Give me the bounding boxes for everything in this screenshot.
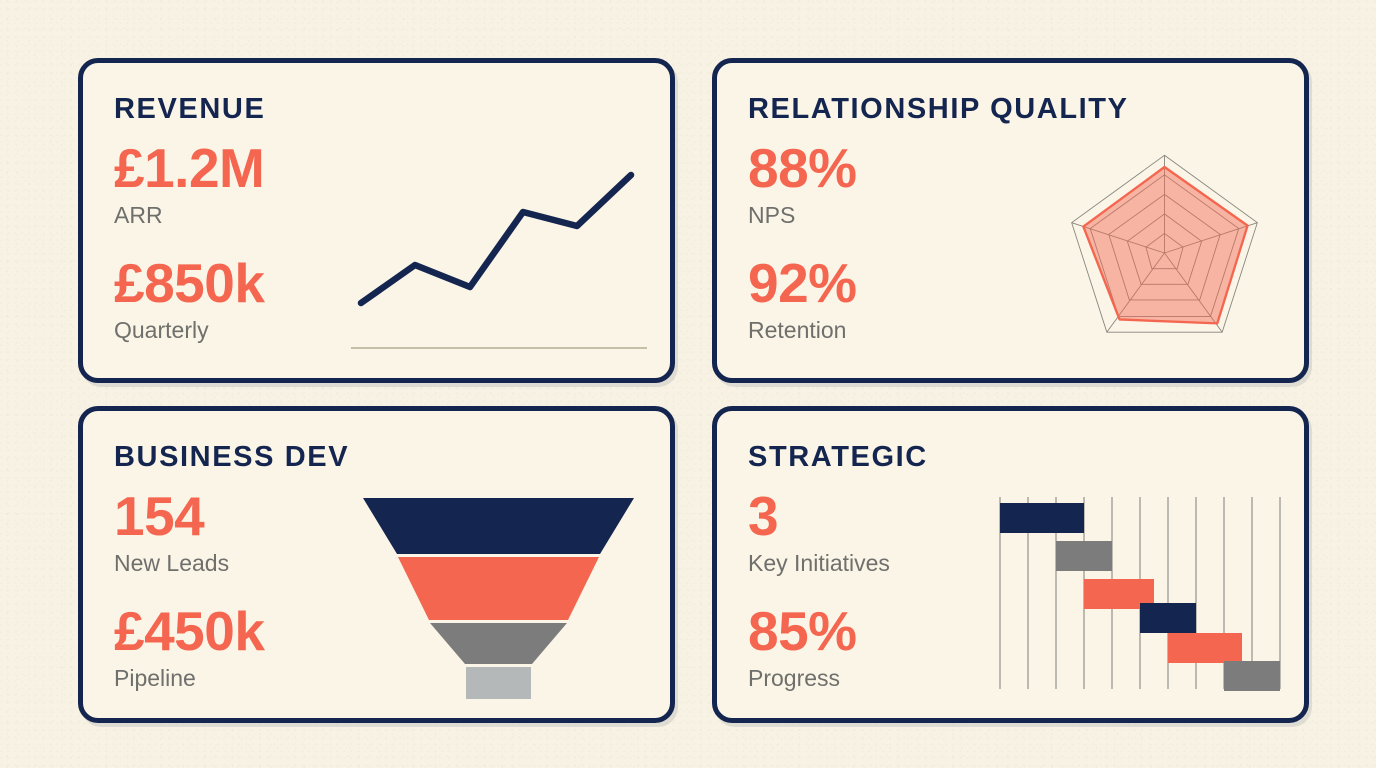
- gantt-bar-2: [1056, 541, 1112, 571]
- card-title-relationship: RELATIONSHIP QUALITY: [748, 93, 1129, 126]
- funnel-stage-3: [430, 623, 567, 664]
- revenue-line-series: [361, 175, 631, 303]
- metric-value-quarterly: £850k: [114, 256, 364, 311]
- metric-nps: 88% NPS: [748, 141, 998, 228]
- dashboard-grid: REVENUE £1.2M ARR £850k Quarterly RELATI…: [0, 0, 1376, 768]
- bizdev-funnel-chart: [361, 496, 636, 701]
- metric-key-initiatives: 3 Key Initiatives: [748, 489, 998, 576]
- card-relationship-quality[interactable]: RELATIONSHIP QUALITY 88% NPS 92% Retenti…: [712, 58, 1309, 383]
- metric-label-arr: ARR: [114, 203, 364, 228]
- metric-label-new-leads: New Leads: [114, 551, 364, 576]
- metric-label-retention: Retention: [748, 318, 998, 343]
- gantt-bar-3: [1084, 579, 1154, 609]
- metric-label-quarterly: Quarterly: [114, 318, 364, 343]
- metric-value-pipeline: £450k: [114, 604, 364, 659]
- card-title-bizdev: BUSINESS DEV: [114, 441, 349, 474]
- funnel-stage-4: [466, 667, 531, 699]
- metrics-bizdev: 154 New Leads £450k Pipeline: [114, 489, 364, 692]
- relationship-radar-chart: [1057, 143, 1272, 363]
- metric-label-nps: NPS: [748, 203, 998, 228]
- metric-progress: 85% Progress: [748, 604, 998, 691]
- metric-label-pipeline: Pipeline: [114, 666, 364, 691]
- gantt-bar-4: [1140, 603, 1196, 633]
- funnel-stage-2: [398, 557, 599, 620]
- metric-value-key-initiatives: 3: [748, 489, 998, 544]
- metrics-revenue: £1.2M ARR £850k Quarterly: [114, 141, 364, 344]
- revenue-line-chart: [345, 158, 655, 358]
- gantt-bars: [1000, 503, 1280, 691]
- card-business-dev[interactable]: BUSINESS DEV 154 New Leads £450k Pipelin…: [78, 406, 675, 723]
- strategic-gantt-chart: [992, 493, 1282, 693]
- metric-retention: 92% Retention: [748, 256, 998, 343]
- gantt-bar-6: [1224, 661, 1280, 691]
- gantt-gridlines: [1000, 497, 1280, 689]
- metric-new-leads: 154 New Leads: [114, 489, 364, 576]
- metric-label-progress: Progress: [748, 666, 998, 691]
- metric-value-new-leads: 154: [114, 489, 364, 544]
- metric-pipeline: £450k Pipeline: [114, 604, 364, 691]
- radar-grid: [1072, 155, 1258, 332]
- card-title-revenue: REVENUE: [114, 93, 265, 126]
- funnel-stage-1: [363, 498, 634, 554]
- metric-label-key-initiatives: Key Initiatives: [748, 551, 998, 576]
- gantt-bar-5: [1168, 633, 1242, 663]
- metric-quarterly: £850k Quarterly: [114, 256, 364, 343]
- metric-value-arr: £1.2M: [114, 141, 364, 196]
- metric-arr: £1.2M ARR: [114, 141, 364, 228]
- gantt-bar-1: [1000, 503, 1084, 533]
- radar-data-polygon: [1083, 167, 1247, 323]
- metric-value-progress: 85%: [748, 604, 998, 659]
- card-title-strategic: STRATEGIC: [748, 441, 928, 474]
- metrics-strategic: 3 Key Initiatives 85% Progress: [748, 489, 998, 692]
- metric-value-nps: 88%: [748, 141, 998, 196]
- card-revenue[interactable]: REVENUE £1.2M ARR £850k Quarterly: [78, 58, 675, 383]
- metrics-relationship: 88% NPS 92% Retention: [748, 141, 998, 344]
- metric-value-retention: 92%: [748, 256, 998, 311]
- card-strategic[interactable]: STRATEGIC 3 Key Initiatives 85% Progress: [712, 406, 1309, 723]
